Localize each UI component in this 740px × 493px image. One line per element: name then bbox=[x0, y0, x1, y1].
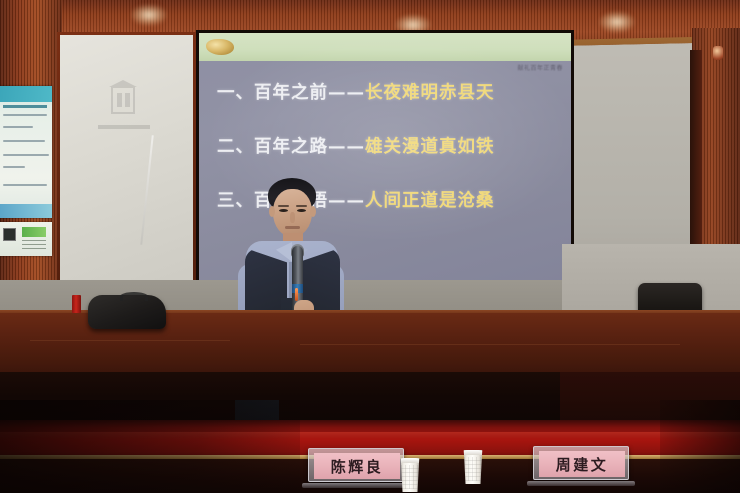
placard-holder: 陈辉良 bbox=[308, 448, 404, 482]
notice-poster-upper bbox=[0, 86, 52, 218]
emblem-svg bbox=[106, 79, 140, 121]
slide-line-1-topic: 一、 bbox=[217, 83, 254, 103]
poster-footer-band bbox=[0, 204, 52, 218]
slide-line-2-topic: 二、 bbox=[217, 137, 254, 157]
poster-title-bar bbox=[3, 105, 47, 108]
conference-room-photo: 献礼百年正青春 一、百年之前——长夜难明赤县天 二、百年之路——雄关漫道真如铁 … bbox=[0, 0, 740, 493]
red-canister bbox=[72, 295, 81, 313]
recessed-ceiling-light bbox=[132, 5, 166, 25]
paper-cup-left bbox=[399, 458, 421, 492]
slide-header-band bbox=[199, 33, 571, 61]
slide-line-2-verse: 雄关漫道真如铁 bbox=[365, 137, 495, 157]
scroll-ornament-icon bbox=[206, 39, 234, 55]
slide-line-2-dash: —— bbox=[328, 137, 365, 157]
whiteboard-crease bbox=[140, 135, 153, 245]
speaker-eye-left bbox=[279, 209, 288, 212]
cup-pattern bbox=[401, 465, 419, 489]
speaker-eyebrow-left bbox=[278, 205, 289, 207]
whiteboard bbox=[60, 35, 193, 285]
emblem-caption-bar bbox=[98, 125, 150, 129]
foreground-right-shadow bbox=[660, 400, 740, 493]
slide-line-1-dash: —— bbox=[328, 83, 365, 103]
microphone-led-indicator bbox=[295, 288, 298, 301]
slide-line-3-verse: 人间正道是沧桑 bbox=[365, 191, 495, 211]
podium-panel-seam bbox=[30, 340, 230, 341]
placard-name-text: 周建文 bbox=[556, 454, 609, 475]
speaker-ear-left bbox=[269, 206, 275, 217]
poster-text-line bbox=[3, 114, 47, 116]
placard-card: 周建文 bbox=[539, 451, 625, 477]
qr-code-icon bbox=[3, 228, 16, 241]
slide-line-2: 二、百年之路——雄关漫道真如铁 bbox=[217, 133, 559, 158]
poster-logo-badge bbox=[22, 227, 46, 237]
speaker-nose bbox=[290, 212, 295, 223]
slide-line-1: 一、百年之前——长夜难明赤县天 bbox=[217, 79, 559, 104]
cup-rim bbox=[399, 458, 421, 463]
poster-text-line bbox=[3, 140, 45, 142]
speaker-mouth bbox=[285, 226, 300, 229]
cup-rim bbox=[462, 450, 484, 455]
bag-handle bbox=[120, 292, 148, 301]
podium-panel-seam bbox=[300, 344, 680, 345]
wall-lamp-icon bbox=[713, 46, 723, 60]
recessed-ceiling-light bbox=[600, 12, 634, 32]
slide-line-2-title: 百年之路 bbox=[254, 137, 328, 157]
placard-holder: 周建文 bbox=[533, 446, 629, 480]
foreground-left-shadow bbox=[0, 400, 300, 493]
placard-card: 陈辉良 bbox=[314, 453, 400, 479]
slide-line-1-title: 百年之前 bbox=[254, 83, 328, 103]
slide-line-1-verse: 长夜难明赤县天 bbox=[365, 83, 495, 103]
poster-text-line bbox=[22, 248, 46, 249]
poster-text-line bbox=[3, 166, 25, 168]
placard-base bbox=[302, 483, 410, 488]
poster-header-band bbox=[0, 86, 52, 102]
institution-emblem-icon bbox=[106, 79, 140, 121]
poster-text-line bbox=[3, 154, 49, 156]
speaker-ear-right bbox=[310, 206, 316, 217]
placard-base bbox=[527, 481, 635, 486]
poster-text-line bbox=[22, 240, 46, 241]
notice-poster-lower bbox=[0, 222, 52, 256]
speaker-eyebrow-right bbox=[296, 205, 307, 207]
cup-pattern bbox=[464, 457, 482, 481]
poster-text-line bbox=[3, 126, 33, 128]
poster-text-line bbox=[22, 244, 46, 245]
name-placard-right: 周建文 bbox=[533, 446, 629, 484]
placard-name-text: 陈辉良 bbox=[331, 456, 384, 477]
paper-cup-right bbox=[462, 450, 484, 484]
poster-text-line bbox=[3, 184, 47, 186]
speaker-eye-right bbox=[297, 209, 306, 212]
name-placard-left: 陈辉良 bbox=[308, 448, 404, 486]
